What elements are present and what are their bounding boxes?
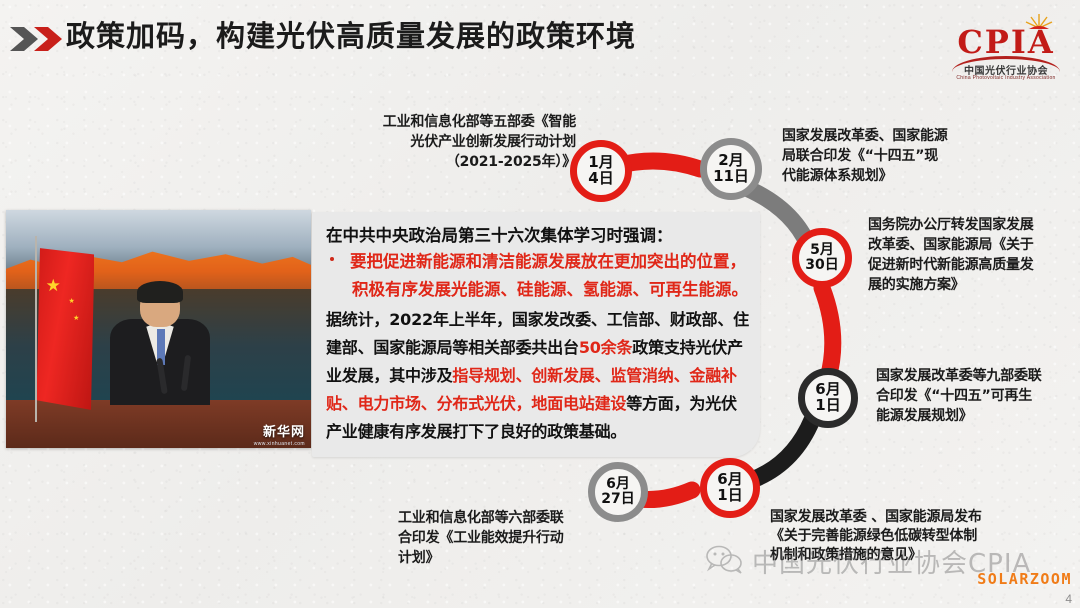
annotation-feb11: 国家发展改革委、国家能源 局联合印发《“十四五”现 代能源体系规划》 [782, 126, 1032, 186]
double-chevron-right-icon [8, 24, 66, 54]
photo-credit-url: www.xinhuanet.com [254, 441, 305, 447]
page-title: 政策加码，构建光伏高质量发展的政策环境 [66, 13, 636, 55]
annotation-jun1-upper: 国家发展改革委等九部委联 合印发《“十四五”可再生 能源发展规划》 [876, 366, 1080, 426]
timeline-node-jun1-lower[interactable]: 6月 1日 [700, 458, 760, 518]
node-day: 11日 [713, 169, 749, 185]
flag-star-icon: ★ [69, 298, 75, 305]
timeline-node-feb11[interactable]: 2月 11日 [700, 138, 762, 200]
annotation-jun1-lower: 国家发展改革委 、国家能源局发布 《关于完善能源绿色低碳转型体制 机制和政策措施… [770, 508, 1070, 565]
node-month: 5月 [810, 243, 834, 258]
node-month: 6月 [606, 477, 630, 492]
cpia-english-name: China Photovoltaic Industry Association [946, 75, 1066, 81]
timeline-node-may30[interactable]: 5月 30日 [792, 228, 852, 288]
node-day: 1日 [717, 488, 742, 504]
slide-root: 政策加码，构建光伏高质量发展的政策环境 CPIA 中国光伏行业协会 China [0, 0, 1080, 608]
leader-speech-photo: ★ ★ ★ 新华网 www.xinhuanet.com [6, 210, 311, 448]
page-number: 4 [1065, 592, 1072, 606]
wechat-icon [706, 544, 744, 579]
solarzoom-watermark: SOLARZOOM [977, 570, 1072, 588]
flag-star-icon: ★ [73, 315, 79, 322]
photo-credit: 新华网 [263, 421, 305, 440]
bullet-dot-icon [330, 257, 334, 261]
cpia-logo: CPIA 中国光伏行业协会 China Photovoltaic Industr… [946, 8, 1066, 86]
node-day: 27日 [601, 492, 634, 507]
annotation-may30: 国务院办公厅转发国家发展 改革委、国家能源局《关于 促进新时代新能源高质量发 展… [868, 215, 1080, 295]
annotation-jun27: 工业和信息化部等六部委联 合印发《工业能效提升行动 计划》 [398, 508, 618, 568]
node-day: 4日 [588, 171, 613, 187]
flag-star-icon: ★ [46, 277, 61, 294]
cpia-wordmark: CPIA [946, 26, 1066, 58]
timeline-node-jun1-upper[interactable]: 6月 1日 [798, 368, 858, 428]
slide-header: 政策加码，构建光伏高质量发展的政策环境 CPIA 中国光伏行业协会 China [0, 0, 1080, 78]
china-flag [37, 248, 95, 410]
node-day: 30日 [805, 258, 838, 273]
annotation-jan4: 工业和信息化部等五部委《智能 光伏产业创新发展行动计划 （2021-2025年）… [336, 112, 576, 172]
photo-person-hair [137, 281, 183, 302]
timeline-node-jan4[interactable]: 1月 4日 [570, 140, 632, 202]
node-day: 1日 [815, 398, 840, 414]
